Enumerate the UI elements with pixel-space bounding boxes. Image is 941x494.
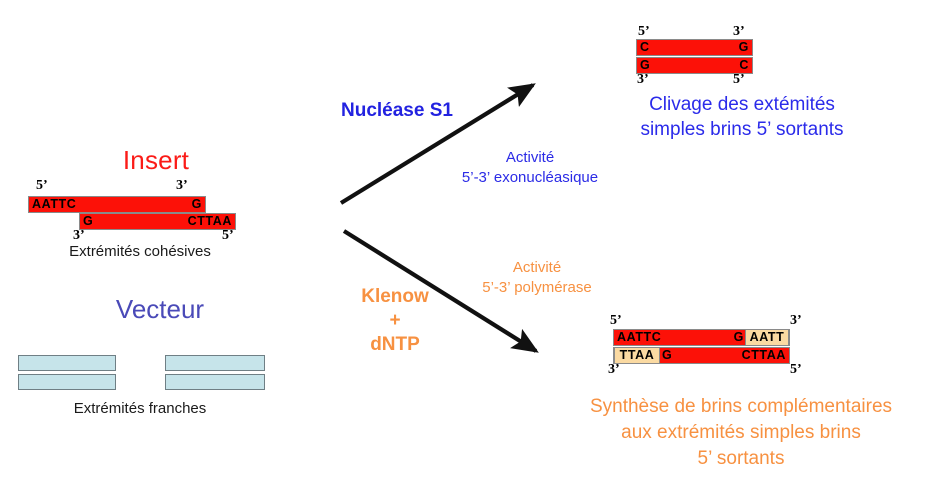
vector-box-right-bottom — [165, 374, 265, 390]
result-upper-top-strand-left-bases: C — [640, 40, 650, 55]
result-upper-label-5prime-bottom: 5’ — [733, 72, 745, 88]
result-lower-caption-line1: Synthèse de brins complémentaires — [542, 394, 940, 420]
vecteur-title: Vecteur — [80, 294, 240, 325]
result-lower-top-strand-right-bases: G — [734, 330, 744, 345]
insert-title: Insert — [96, 145, 216, 176]
result-upper-bottom-strand-right-bases: C — [739, 58, 749, 73]
label-lower-activity-line1: Activité — [452, 258, 622, 278]
label-klenow: Klenow — [330, 285, 460, 309]
insert-caption: Extrémités cohésives — [20, 243, 260, 260]
result-lower-caption: Synthèse de brins complémentaires aux ex… — [542, 394, 940, 472]
result-upper-label-3prime-bottom: 3’ — [637, 72, 649, 88]
result-lower-label-3prime-top: 3’ — [790, 313, 802, 329]
insert-label-3prime-top: 3’ — [176, 178, 188, 194]
label-klenow-dntp: Klenow + dNTP — [330, 285, 460, 357]
insert-label-3prime-bottom: 3’ — [73, 228, 85, 244]
label-upper-activity-line2: 5’-3’ exonucléasique — [440, 168, 620, 188]
result-lower-top-strand-left-bases: AATTC — [617, 330, 661, 345]
result-upper-top-strand-right-bases: G — [739, 40, 749, 55]
result-lower-top-strand-new-synthesis: AATT — [745, 330, 789, 345]
label-lower-activity-line2: 5’-3’ polymérase — [452, 278, 622, 298]
insert-label-5prime-top: 5’ — [36, 178, 48, 194]
label-nuclease-s1: Nucléase S1 — [341, 100, 453, 122]
insert-top-strand-left-bases: AATTC — [32, 197, 76, 212]
insert-label-5prime-bottom: 5’ — [222, 228, 234, 244]
result-lower-label-5prime-bottom: 5’ — [790, 362, 802, 378]
result-lower-bottom-strand: TTAA G CTTAA — [613, 347, 790, 364]
vector-box-left-top — [18, 355, 116, 371]
insert-bottom-strand: G CTTAA — [79, 213, 236, 230]
label-dntp: dNTP — [330, 333, 460, 357]
result-lower-bottom-strand-new-synthesis: TTAA — [614, 348, 660, 363]
result-lower-caption-line2: aux extrémités simples brins — [542, 420, 940, 446]
label-upper-activity-line1: Activité — [440, 148, 620, 168]
result-lower-label-3prime-bottom: 3’ — [608, 362, 620, 378]
result-upper-bottom-strand-left-bases: G — [640, 58, 650, 73]
result-lower-caption-line3: 5’ sortants — [542, 446, 940, 472]
label-upper-activity: Activité 5’-3’ exonucléasique — [440, 148, 620, 188]
insert-bottom-strand-left-bases: G — [83, 214, 93, 229]
result-upper-caption: Clivage des extémités simples brins 5’ s… — [552, 92, 932, 142]
vector-box-left-bottom — [18, 374, 116, 390]
result-upper-caption-line2: simples brins 5’ sortants — [552, 117, 932, 142]
label-lower-activity: Activité 5’-3’ polymérase — [452, 258, 622, 298]
result-lower-bottom-strand-left-bases: G — [662, 348, 672, 363]
insert-bottom-strand-right-bases: CTTAA — [188, 214, 232, 229]
result-lower-top-strand: AATTC G AATT — [613, 329, 790, 346]
result-upper-label-3prime-top: 3’ — [733, 24, 745, 40]
insert-top-strand: AATTC G — [28, 196, 206, 213]
insert-top-strand-right-bases: G — [192, 197, 202, 212]
result-lower-label-5prime-top: 5’ — [610, 313, 622, 329]
vector-box-right-top — [165, 355, 265, 371]
label-plus-sign: + — [330, 309, 460, 333]
vecteur-caption: Extrémités franches — [20, 400, 260, 417]
result-lower-bottom-strand-right-bases: CTTAA — [742, 348, 786, 363]
result-upper-label-5prime-top: 5’ — [638, 24, 650, 40]
result-upper-top-strand: C G — [636, 39, 753, 56]
result-upper-caption-line1: Clivage des extémités — [552, 92, 932, 117]
